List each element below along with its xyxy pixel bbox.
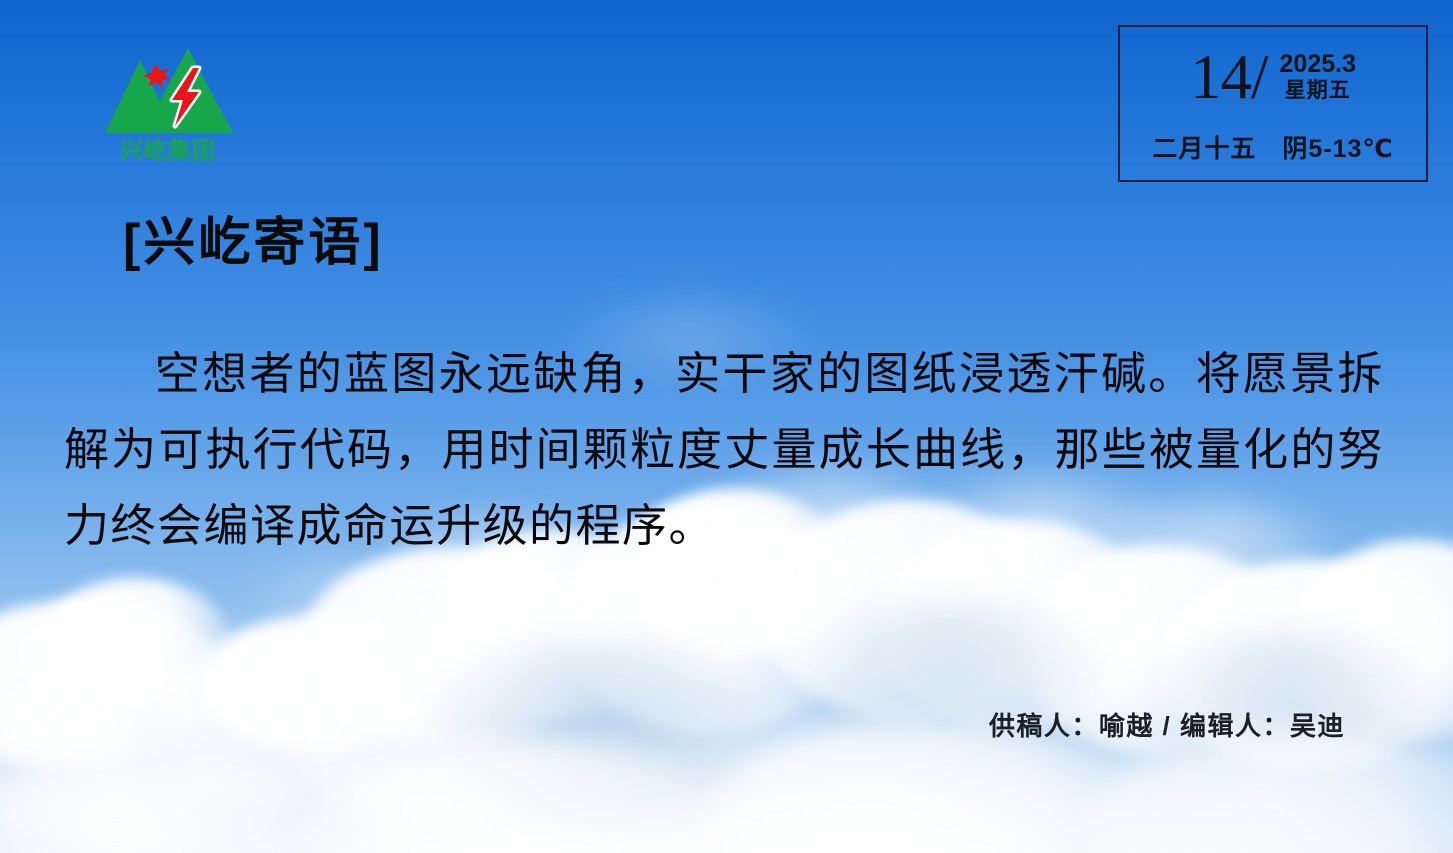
cloud-puff: [290, 655, 560, 835]
year-month: 2025.3: [1280, 50, 1356, 78]
message-body: 空想者的蓝图永远缺角，实干家的图纸浸透汗碱。将愿景拆解为可执行代码，用时间颗粒度…: [64, 336, 1384, 564]
cloud-shadow: [800, 600, 1100, 770]
cloud-puff: [0, 660, 300, 853]
year-month-group: 2025.3 星期五: [1280, 34, 1356, 104]
cloud-puff: [0, 760, 360, 853]
page-title: [兴屹寄语]: [123, 200, 384, 275]
weather-info: 阴5-13℃: [1282, 129, 1393, 165]
cloud-puff: [0, 600, 230, 770]
lunar-date: 二月十五: [1152, 129, 1256, 165]
cloud-shadow: [430, 640, 760, 830]
day-number: 14/: [1190, 34, 1280, 109]
cloud-puff: [200, 615, 430, 755]
poster-canvas: 兴屹集团 14/ 2025.3 星期五 二月十五 阴5-13℃ [兴屹寄语] 空…: [0, 0, 1453, 853]
company-logo: 兴屹集团: [93, 38, 243, 168]
cloud-puff: [150, 640, 410, 810]
logo-wordmark: 兴屹集团: [120, 137, 216, 163]
credits-line: 供稿人：喻越 / 编辑人：吴迪: [989, 706, 1345, 743]
cloud-puff: [120, 640, 320, 730]
date-weather-box: 14/ 2025.3 星期五 二月十五 阴5-13℃: [1118, 25, 1428, 182]
cloud-puff: [300, 548, 600, 748]
date-box-top-row: 14/ 2025.3 星期五: [1120, 34, 1426, 122]
paragraph-text: 空想者的蓝图永远缺角，实干家的图纸浸透汗碱。将愿景拆解为可执行代码，用时间颗粒度…: [64, 347, 1384, 552]
weekday: 星期五: [1285, 78, 1351, 104]
cloud-puff: [300, 740, 750, 853]
cloud-puff: [240, 560, 460, 630]
cloud-puff: [1080, 730, 1453, 853]
cloud-puff: [40, 578, 230, 708]
date-box-bottom-row: 二月十五 阴5-13℃: [1120, 129, 1426, 165]
